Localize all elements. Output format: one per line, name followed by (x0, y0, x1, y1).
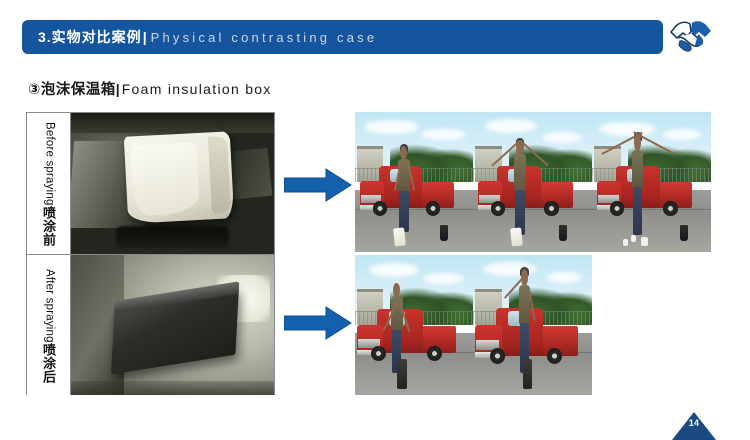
section-header-bar: 3.实物对比案例|Physical contrasting case (22, 20, 663, 54)
header-title-en: Physical contrasting case (151, 30, 378, 45)
photo-before-spraying (71, 113, 274, 254)
photo-after-spraying (71, 255, 274, 395)
row-label-after-cn: 喷涂后 (42, 343, 55, 384)
table-row: Before spraying 喷涂前 (27, 113, 274, 254)
result-photo-frame (355, 112, 473, 252)
handshake-icon (668, 14, 714, 58)
row-label-before: Before spraying 喷涂前 (27, 113, 71, 254)
page-number-badge: 14 (672, 412, 716, 440)
row-label-text-group: After spraying 喷涂后 (42, 267, 55, 383)
row-label-after: After spraying 喷涂后 (27, 255, 71, 395)
row-label-before-en: Before spraying (43, 122, 55, 206)
subsection-heading-en: Foam insulation box (122, 81, 272, 97)
subsection-heading-cn: ③泡沫保温箱 (28, 82, 116, 98)
result-photo-frame (473, 255, 592, 395)
subsection-heading: ③泡沫保温箱|Foam insulation box (28, 78, 272, 99)
page-number-text: 14 (672, 418, 716, 428)
result-photo-frame (592, 112, 711, 252)
header-title-cn: 3.实物对比案例 (38, 27, 142, 47)
result-photos-before (355, 112, 711, 252)
result-photos-after (355, 255, 592, 395)
row-label-text-group: Before spraying 喷涂前 (42, 120, 55, 246)
slide-canvas: 3.实物对比案例|Physical contrasting case ③泡沫保温… (0, 0, 750, 440)
result-photo-frame (355, 255, 473, 395)
header-separator: | (142, 29, 148, 45)
subsection-separator: | (116, 81, 120, 97)
comparison-table: Before spraying 喷涂前 (26, 112, 275, 395)
right-arrow-icon (284, 168, 352, 202)
result-photo-frame (473, 112, 592, 252)
row-label-after-en: After spraying (43, 269, 55, 343)
table-row: After spraying 喷涂后 (27, 254, 274, 395)
right-arrow-icon (284, 306, 352, 340)
row-label-before-cn: 喷涂前 (42, 206, 55, 247)
